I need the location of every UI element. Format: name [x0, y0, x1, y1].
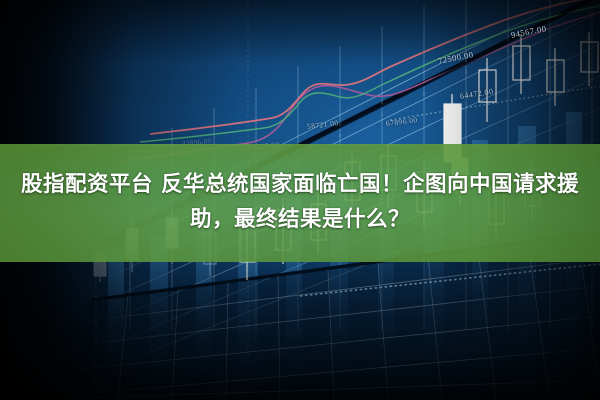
price-label: 64472.00 [459, 87, 494, 101]
headline-band: 股指配资平台 反华总统国家面临亡国！企图向中国请求援助，最终结果是什么？ [0, 144, 600, 262]
price-label: 72500.00 [437, 49, 474, 66]
price-label: 58721.00 [306, 118, 339, 131]
price-label: 67896.00 [385, 115, 418, 128]
headline-container: 股指配资平台 反华总统国家面临亡国！企图向中国请求援助，最终结果是什么？ [0, 144, 600, 262]
chart-banner: 94567.0072500.0064472.0067896.0058721.00… [0, 0, 600, 400]
price-label: 94567.00 [510, 23, 547, 40]
headline-text: 股指配资平台 反华总统国家面临亡国！企图向中国请求援助，最终结果是什么？ [14, 168, 586, 238]
